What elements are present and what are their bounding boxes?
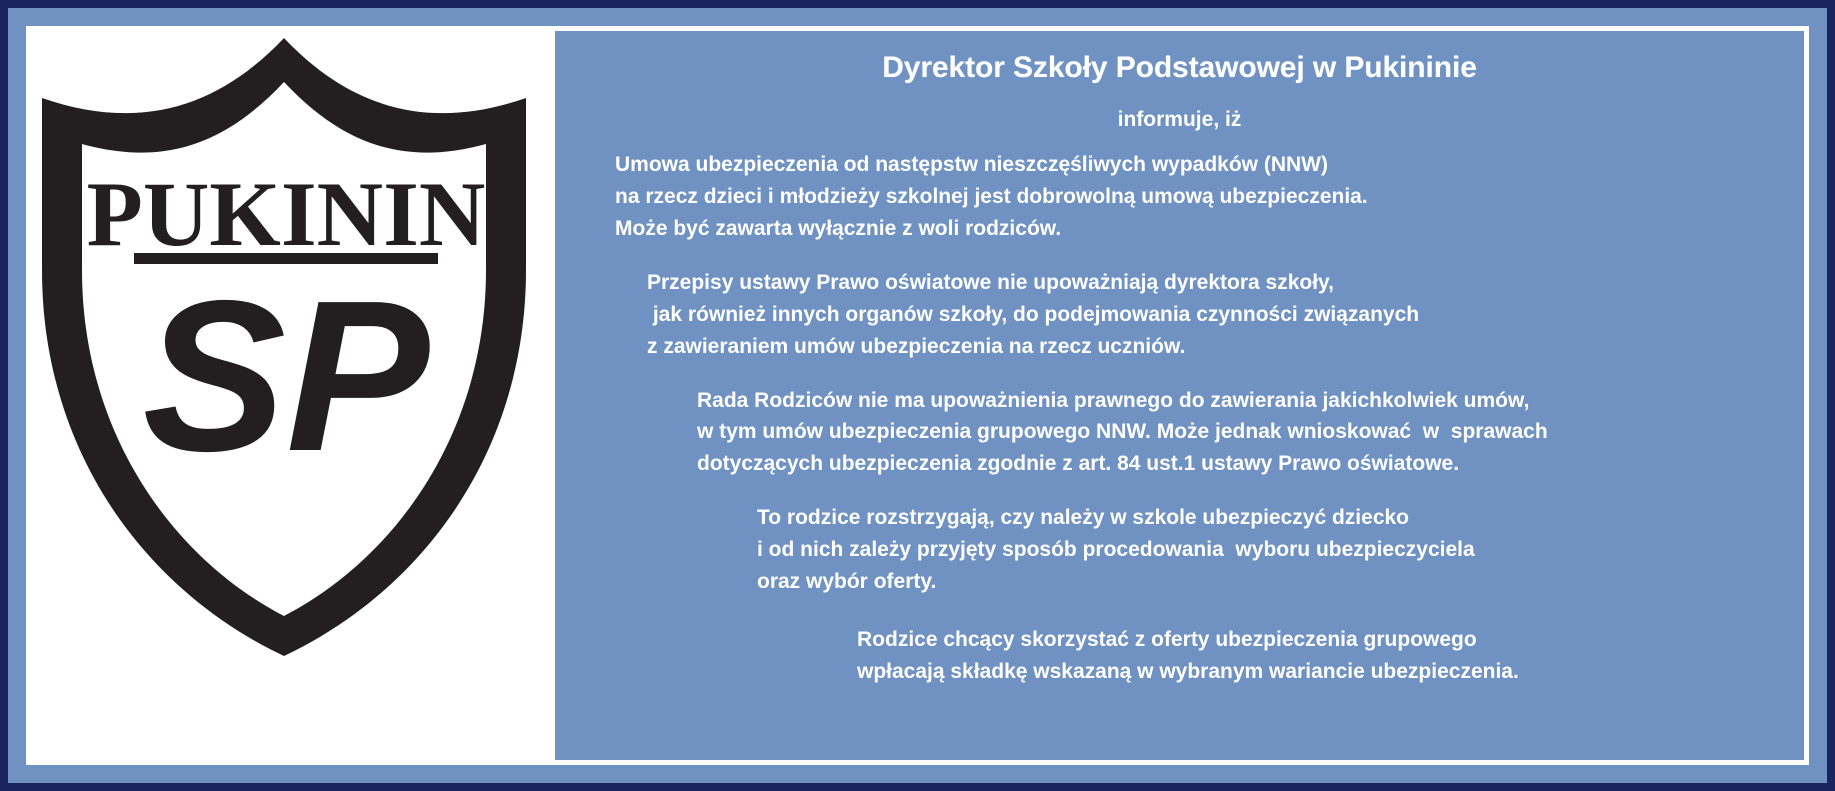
notice-headline: Dyrektor Szkoły Podstawowej w Pukininie [569, 51, 1790, 84]
notice-line: i od nich zależy przyjęty sposób procedo… [757, 534, 1790, 566]
notice-line: wpłacają składkę wskazaną w wybranym war… [857, 656, 1790, 688]
shield-crest-icon: PUKININ SP [34, 26, 544, 660]
notice-line: Rada Rodziców nie ma upoważnienia prawne… [697, 385, 1790, 417]
notice-line: Przepisy ustawy Prawo oświatowe nie upow… [647, 267, 1790, 299]
notice-paragraph-przepisy: Przepisy ustawy Prawo oświatowe nie upow… [569, 267, 1790, 363]
notice-paragraph-rodzice: To rodzice rozstrzygają, czy należy w sz… [569, 502, 1790, 598]
notice-line: z zawieraniem umów ubezpieczenia na rzec… [647, 331, 1790, 363]
logo-bottom-text: SP [143, 255, 430, 496]
notice-line: jak również innych organów szkoły, do po… [647, 299, 1790, 331]
notice-paragraph-umowa: Umowa ubezpieczenia od następstw nieszcz… [569, 149, 1790, 245]
notice-line: na rzecz dzieci i młodzieży szkolnej jes… [615, 181, 1790, 213]
notice-line: w tym umów ubezpieczenia grupowego NNW. … [697, 416, 1790, 448]
notice-line: dotyczących ubezpieczenia zgodnie z art.… [697, 448, 1790, 480]
school-logo-panel: PUKININ SP [26, 26, 550, 765]
poster-inner: PUKININ SP Dyrektor Szkoły Podstawowej w… [26, 26, 1809, 765]
notice-line: oraz wybór oferty. [757, 566, 1790, 598]
logo-top-text: PUKININ [87, 163, 486, 265]
notice-panel: Dyrektor Szkoły Podstawowej w Pukininie … [550, 26, 1809, 765]
notice-line: Rodzice chcący skorzystać z oferty ubezp… [857, 624, 1790, 656]
notice-line: Umowa ubezpieczenia od następstw nieszcz… [615, 149, 1790, 181]
notice-line: Może być zawarta wyłącznie z woli rodzic… [615, 213, 1790, 245]
notice-paragraph-rada: Rada Rodziców nie ma upoważnienia prawne… [569, 385, 1790, 481]
notice-subline: informuje, iż [569, 108, 1790, 131]
notice-paragraph-chcacy: Rodzice chcący skorzystać z oferty ubezp… [569, 624, 1790, 688]
notice-line: To rodzice rozstrzygają, czy należy w sz… [757, 502, 1790, 534]
poster-root: PUKININ SP Dyrektor Szkoły Podstawowej w… [0, 0, 1835, 791]
